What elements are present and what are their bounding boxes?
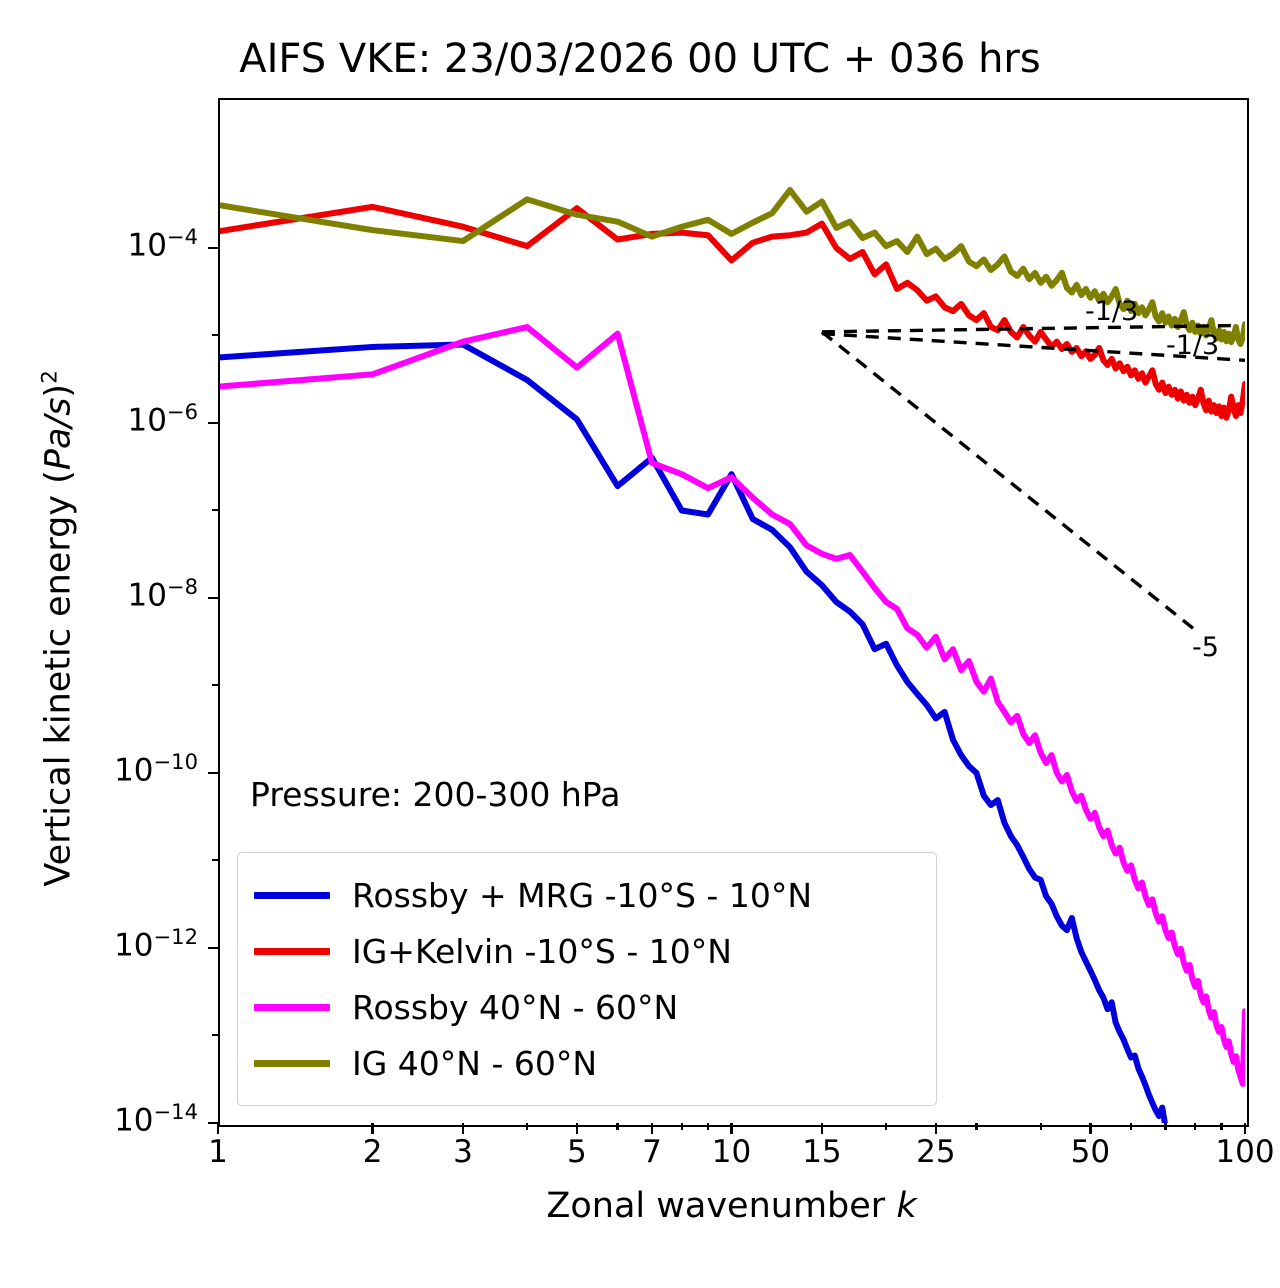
- x-axis-label-italic: k: [896, 1186, 916, 1226]
- legend-item-1[interactable]: IG+Kelvin -10°S - 10°N: [254, 923, 918, 979]
- x-axis-tick-label: 10: [712, 1134, 751, 1170]
- y-axis-label-italic: Pa/s: [38, 398, 78, 471]
- legend-label: Rossby + MRG -10°S - 10°N: [352, 879, 812, 912]
- legend-color-swatch: [254, 1060, 330, 1067]
- x-axis-tick-label: 5: [567, 1134, 587, 1170]
- x-axis-label: Zonal wavenumber k: [218, 1186, 1245, 1226]
- legend-item-3[interactable]: IG 40°N - 60°N: [254, 1035, 918, 1091]
- legend-item-0[interactable]: Rossby + MRG -10°S - 10°N: [254, 867, 918, 923]
- legend-color-swatch: [254, 1004, 330, 1011]
- y-axis-tick-label: 10−6: [127, 399, 198, 438]
- y-axis-tick: [208, 772, 218, 775]
- slope-label-lower: -1/3: [1166, 330, 1219, 361]
- x-axis-tick-label: 15: [802, 1134, 841, 1170]
- y-axis-label: Vertical kinetic energy (Pa/s)2: [38, 248, 79, 1008]
- x-axis-label-prefix: Zonal wavenumber: [546, 1186, 896, 1226]
- y-axis-tick-label: 10−8: [127, 574, 198, 613]
- y-axis-tick-label: 10−14: [114, 1099, 198, 1138]
- legend-label: IG 40°N - 60°N: [352, 1047, 597, 1080]
- x-axis-tick-label: 2: [363, 1134, 383, 1170]
- x-axis-tick-label: 1: [208, 1134, 228, 1170]
- x-axis-tick-label: 50: [1071, 1134, 1110, 1170]
- y-axis-tick: [208, 1122, 218, 1125]
- slope-label-minus-five: -5: [1192, 632, 1219, 663]
- x-axis-tick-label: 25: [916, 1134, 955, 1170]
- legend-item-2[interactable]: Rossby 40°N - 60°N: [254, 979, 918, 1035]
- chart-figure: AIFS VKE: 23/03/2026 00 UTC + 036 hrs Ve…: [0, 0, 1280, 1288]
- legend-label: IG+Kelvin -10°S - 10°N: [352, 935, 732, 968]
- x-axis-tick-label: 7: [642, 1134, 662, 1170]
- y-axis-label-prefix: Vertical kinetic energy (: [38, 470, 78, 886]
- legend-color-swatch: [254, 892, 330, 899]
- chart-title: AIFS VKE: 23/03/2026 00 UTC + 036 hrs: [0, 36, 1280, 82]
- slope-label-upper: -1/3: [1085, 296, 1138, 327]
- legend-color-swatch: [254, 948, 330, 955]
- y-axis-label-suffix: ): [38, 384, 78, 398]
- y-axis-tick: [208, 597, 218, 600]
- y-axis-tick-label: 10−12: [114, 924, 198, 963]
- y-axis-tick-label: 10−10: [114, 749, 198, 788]
- x-axis-tick-label: 3: [453, 1134, 473, 1170]
- y-axis-tick-label: 10−4: [127, 224, 198, 263]
- pressure-annotation: Pressure: 200-300 hPa: [250, 775, 620, 814]
- chart-legend: Rossby + MRG -10°S - 10°NIG+Kelvin -10°S…: [237, 852, 937, 1106]
- y-axis-tick: [208, 422, 218, 425]
- legend-label: Rossby 40°N - 60°N: [352, 991, 678, 1024]
- x-axis-tick-label: 100: [1215, 1134, 1274, 1170]
- y-axis-tick: [208, 947, 218, 950]
- y-axis-tick: [208, 247, 218, 250]
